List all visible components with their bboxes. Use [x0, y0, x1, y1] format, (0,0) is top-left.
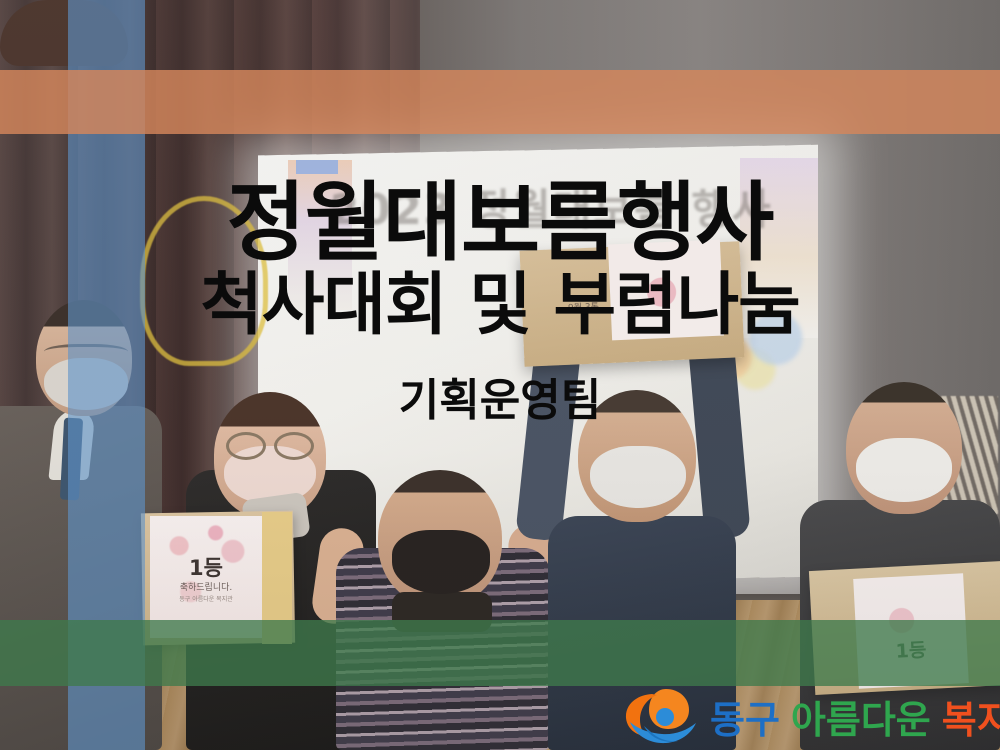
organization-logo: 동구 아름다운 복지관	[622, 686, 1000, 746]
logo-wordmark: 동구 아름다운 복지관	[710, 689, 1000, 744]
logo-word-bokjigwan: 복지관	[942, 689, 1000, 744]
dongu-swirl-icon	[622, 686, 700, 746]
logo-word-dongu: 동구	[710, 689, 780, 744]
banner-title-line2: 척사대회 및 부럼나눔	[0, 270, 1000, 341]
title-block: 정월대보름행사 척사대회 및 부럼나눔 기획운영팀	[0, 180, 1000, 426]
banner-title-line1: 정월대보름행사	[0, 180, 1000, 266]
banner-subtitle-team: 기획운영팀	[0, 377, 1000, 425]
logo-word-areumdaun: 아름다운	[791, 689, 931, 744]
banner-image: 2023 정월대보름 행사 1등 축하드립니다	[0, 0, 1000, 750]
